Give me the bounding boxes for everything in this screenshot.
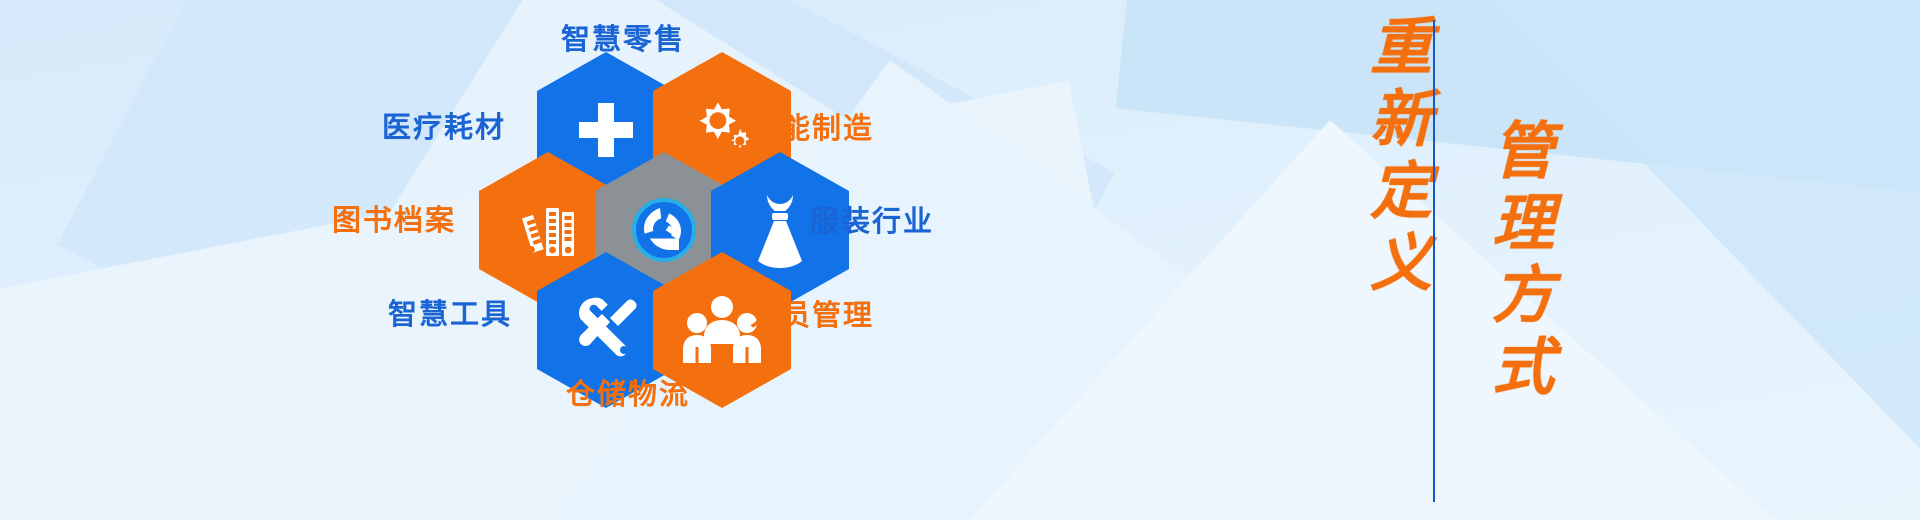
label-archive: 图书档案 — [332, 197, 456, 239]
slogan-right-column: 管理方式 — [1474, 118, 1557, 406]
label-people: 人员管理 — [750, 292, 874, 334]
gears-icon — [688, 98, 756, 162]
slogan-divider — [1433, 20, 1435, 502]
label-manufacture: 智能制造 — [750, 105, 874, 147]
label-logistics: 仓储物流 — [566, 371, 690, 413]
label-medical: 医疗耗材 — [382, 104, 506, 146]
label-tools: 智慧工具 — [388, 291, 512, 333]
rfid-signal-icon — [626, 192, 702, 268]
hexagon-cluster — [455, 52, 765, 392]
dress-icon — [747, 191, 813, 269]
wrench-screwdriver-icon — [567, 291, 645, 369]
label-apparel: 服装行业 — [810, 198, 934, 240]
medical-cross-icon — [575, 99, 637, 161]
binders-icon — [511, 194, 585, 266]
promo-banner: 智慧零售 医疗耗材 智能制造 图书档案 服装行业 智慧工具 人员管理 仓储物流 … — [0, 0, 1920, 520]
slogan-left-column: 重新定义 — [1352, 14, 1435, 302]
background-decoration — [0, 0, 1920, 520]
label-retail: 智慧零售 — [561, 16, 685, 58]
